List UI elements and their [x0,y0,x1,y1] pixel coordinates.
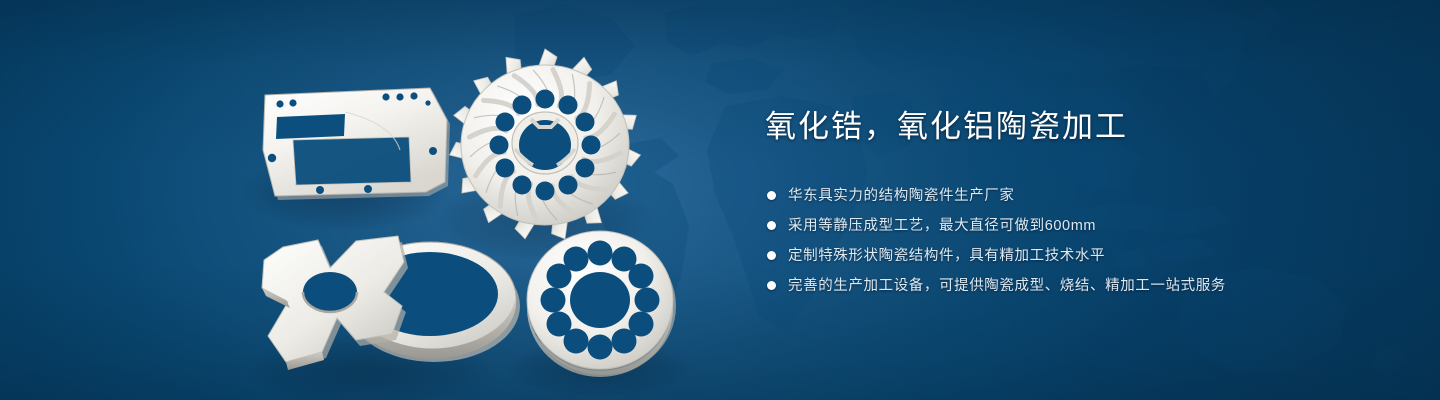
feature-text: 完善的生产加工设备，可提供陶瓷成型、烧结、精加工一站式服务 [788,275,1226,297]
feature-text: 采用等静压成型工艺，最大直径可做到600mm [788,215,1096,237]
page-title: 氧化锆，氧化铝陶瓷加工 [765,108,1385,147]
ceramic-perforated-disc [527,231,676,377]
bullet-dot-icon [767,281,776,290]
hero-banner: 氧化锆，氧化铝陶瓷加工 华东具实力的结构陶瓷件生产厂家 采用等静压成型工艺，最大… [0,0,1440,400]
banner-copy: 氧化锆，氧化铝陶瓷加工 华东具实力的结构陶瓷件生产厂家 采用等静压成型工艺，最大… [765,108,1385,305]
ceramic-plate-with-cutouts [263,88,450,200]
list-item: 华东具实力的结构陶瓷件生产厂家 [767,185,1385,207]
bullet-dot-icon [767,251,776,260]
bullet-dot-icon [767,191,776,200]
feature-list: 华东具实力的结构陶瓷件生产厂家 采用等静压成型工艺，最大直径可做到600mm 定… [767,185,1385,297]
list-item: 定制特殊形状陶瓷结构件，具有精加工技术水平 [767,245,1385,267]
ceramic-products-image [0,0,730,400]
feature-text: 华东具实力的结构陶瓷件生产厂家 [788,185,1015,207]
list-item: 采用等静压成型工艺，最大直径可做到600mm [767,215,1385,237]
list-item: 完善的生产加工设备，可提供陶瓷成型、烧结、精加工一站式服务 [767,275,1385,297]
bullet-dot-icon [767,221,776,230]
feature-text: 定制特殊形状陶瓷结构件，具有精加工技术水平 [788,245,1105,267]
